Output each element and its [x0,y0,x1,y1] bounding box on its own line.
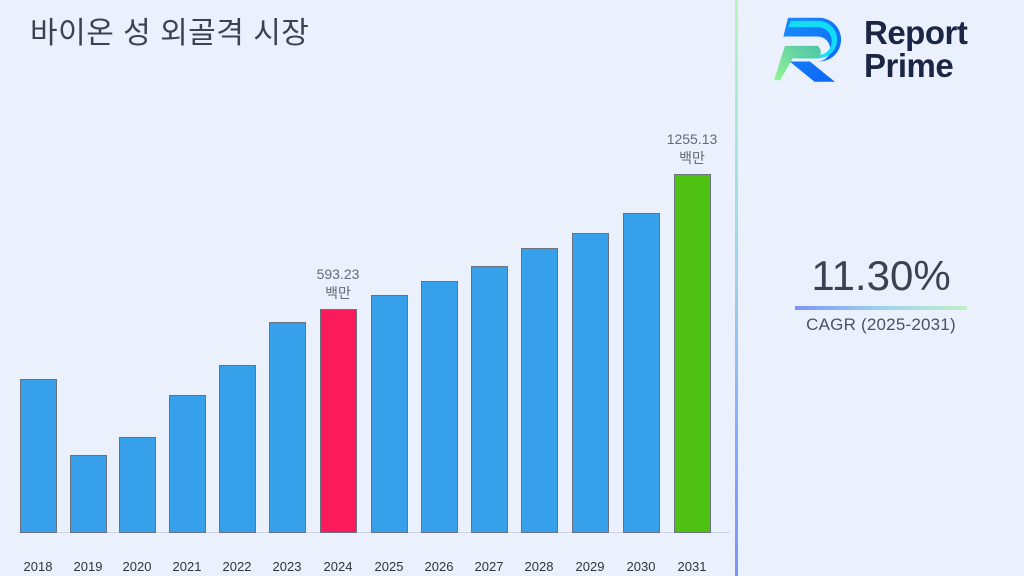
brand-name-line-1: Report [864,16,967,49]
cagr-value: 11.30% [738,252,1024,300]
bar-2024 [320,309,357,533]
brand-panel: Report Prime 11.30% CAGR (2025-2031) [738,0,1024,576]
bar-value-label-2031: 1255.13 백만 [642,130,742,168]
bar-2027 [471,266,508,533]
report-prime-logo-icon [774,10,852,88]
bar-2028 [521,248,558,533]
bar-2025 [371,295,408,533]
bar-2019 [70,455,107,533]
cagr-block: 11.30% CAGR (2025-2031) [738,252,1024,335]
bar-value-label-2024: 593.23 백만 [288,265,388,303]
bar-2029 [572,233,609,533]
bar-2023 [269,322,306,533]
brand-wordmark: Report Prime [864,16,967,82]
bar-2031 [674,174,711,533]
bar-2022 [219,365,256,533]
logo-row: Report Prime [774,10,967,88]
bar-2018 [20,379,57,533]
bar-2020 [119,437,156,533]
bar-chart-plot-area: 2018201920202021202220232024202520262027… [0,0,736,534]
cagr-caption: CAGR (2025-2031) [738,315,1024,335]
cagr-divider-rule [795,306,967,310]
bar-2030 [623,213,660,533]
x-tick-label-2031: 2031 [662,559,722,574]
bar-2026 [421,281,458,533]
chart-panel: 2018201920202021202220232024202520262027… [0,0,736,576]
brand-name-line-2: Prime [864,49,967,82]
infographic-canvas: 바이온 성 외골격 시장 201820192020202120222023202… [0,0,1024,576]
bar-2021 [169,395,206,533]
